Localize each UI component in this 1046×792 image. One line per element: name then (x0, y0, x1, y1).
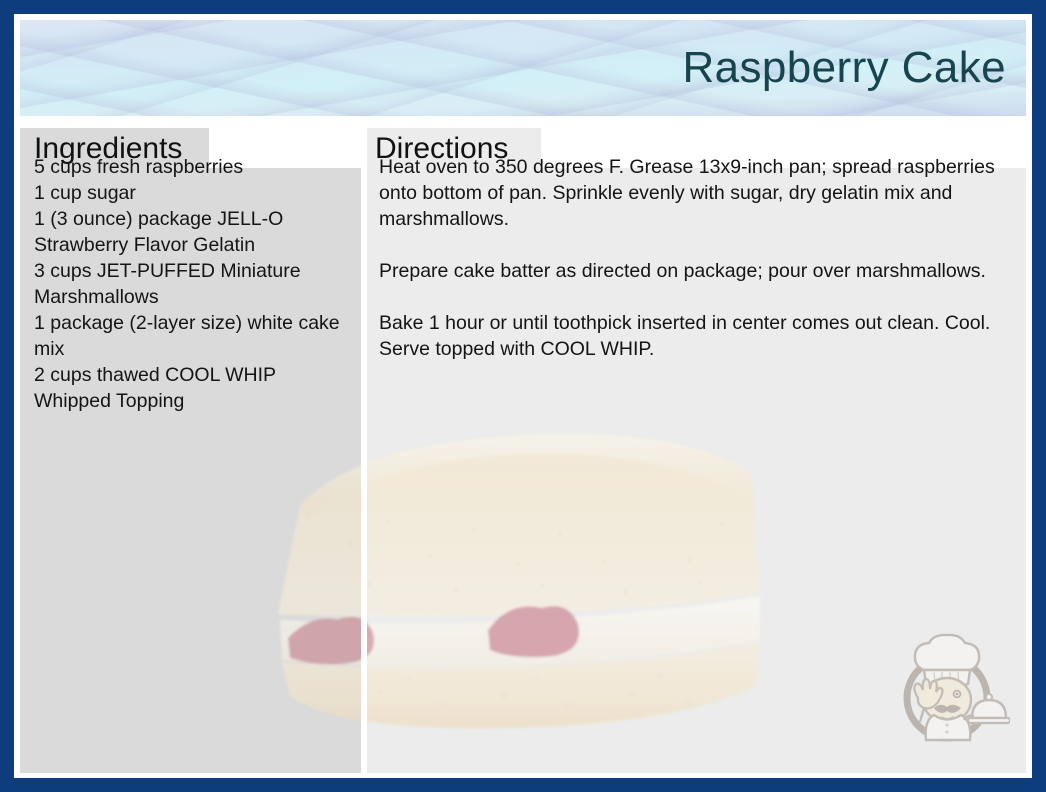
directions-steps: Heat oven to 350 degrees F. Grease 13x9-… (361, 128, 1026, 362)
panel-divider (361, 128, 367, 773)
directions-panel: Directions Heat oven to 350 degrees F. G… (361, 128, 1026, 773)
list-item: 1 package (2-layer size) white cake mix (34, 310, 343, 362)
recipe-card: Raspberry Cake Ingredients 5 cups fresh … (0, 0, 1046, 792)
list-item: 5 cups fresh raspberries (34, 154, 343, 180)
page-title: Raspberry Cake (682, 43, 1006, 93)
direction-step: Prepare cake batter as directed on packa… (379, 258, 1004, 284)
ingredients-panel: Ingredients 5 cups fresh raspberries 1 c… (20, 128, 361, 773)
list-item: 2 cups thawed COOL WHIP Whipped Topping (34, 362, 343, 414)
ingredients-list: 5 cups fresh raspberries 1 cup sugar 1 (… (20, 128, 361, 414)
list-item: 3 cups JET-PUFFED Miniature Marshmallows (34, 258, 343, 310)
direction-step: Bake 1 hour or until toothpick inserted … (379, 310, 1004, 362)
list-item: 1 cup sugar (34, 180, 343, 206)
header-banner: Raspberry Cake (20, 20, 1026, 116)
direction-step: Heat oven to 350 degrees F. Grease 13x9-… (379, 154, 1004, 232)
list-item: 1 (3 ounce) package JELL-O Strawberry Fl… (34, 206, 343, 258)
